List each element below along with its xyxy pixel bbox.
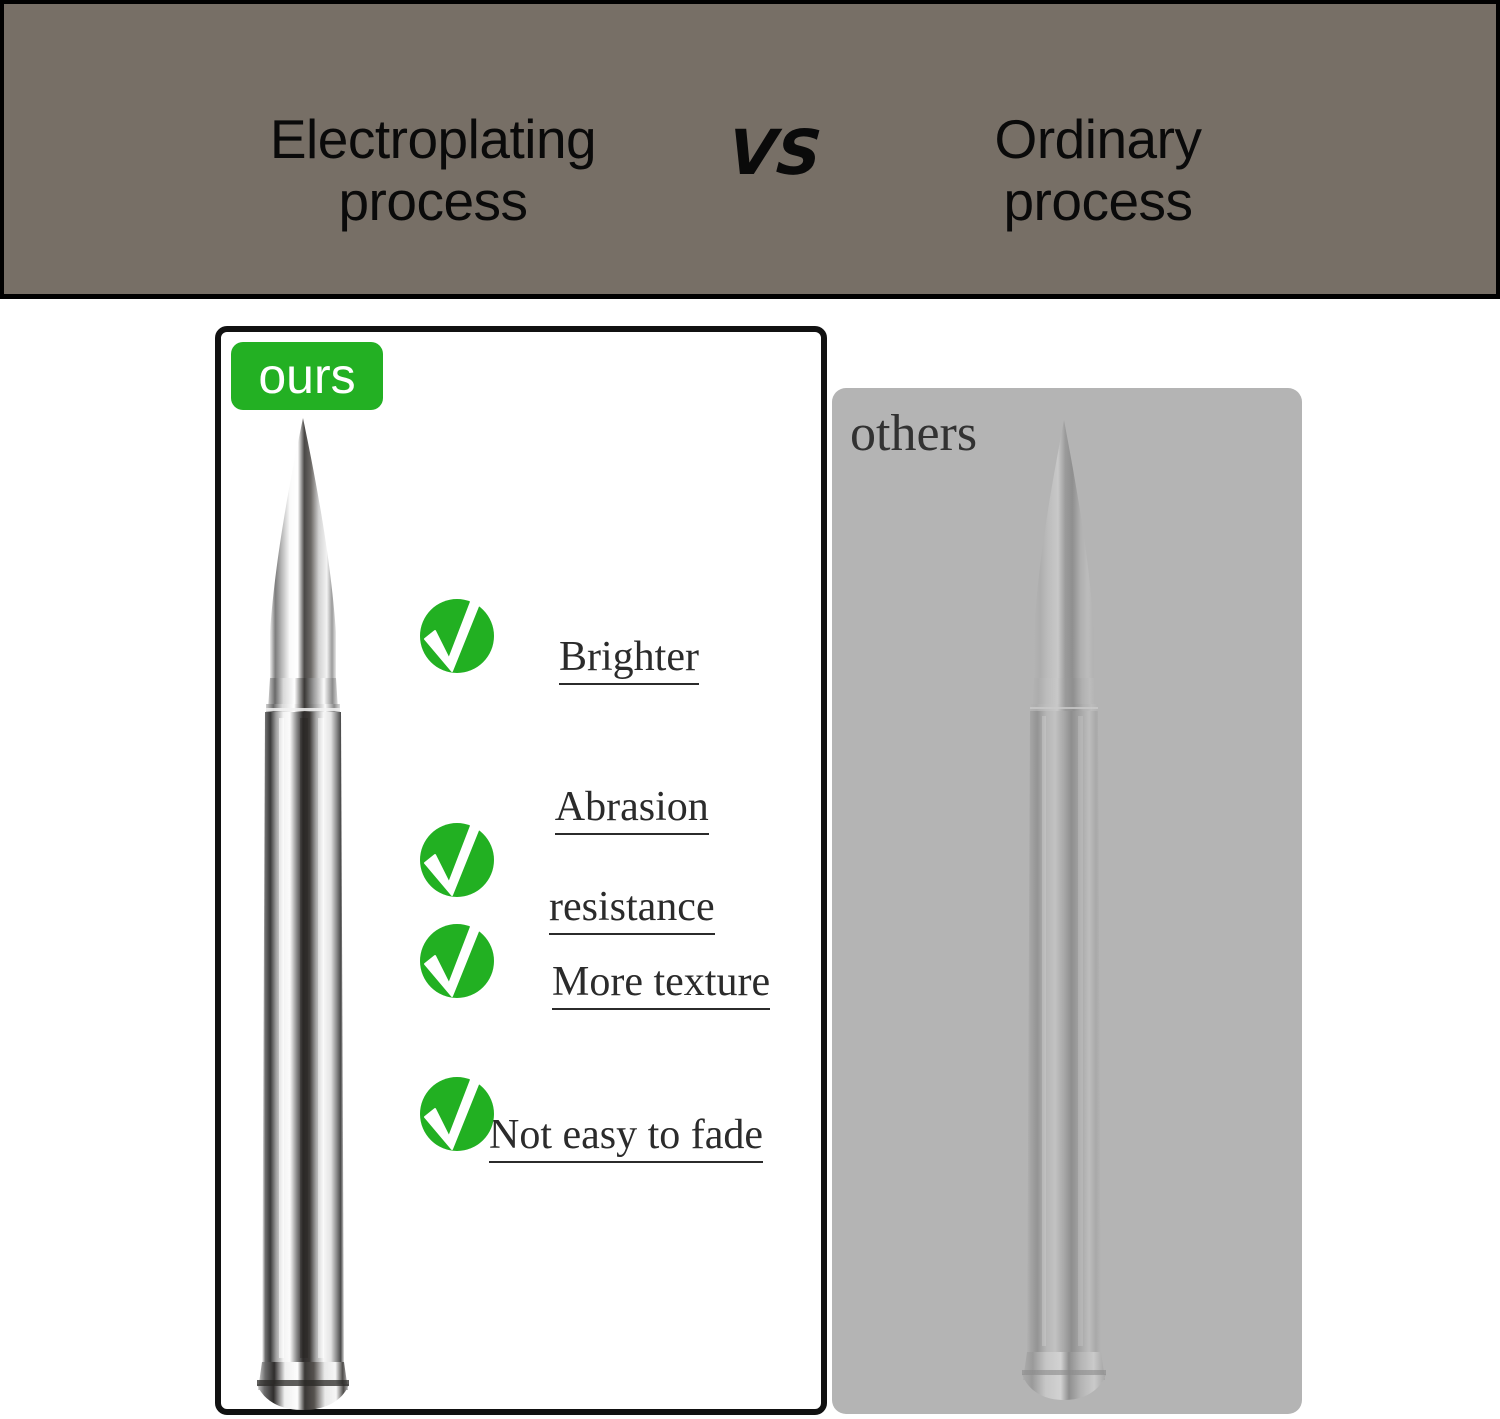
- feature-label: Not easy to fade: [489, 1063, 763, 1163]
- green-check-icon: [417, 595, 497, 675]
- others-label: others: [850, 403, 977, 465]
- right-process-title: Ordinary process: [843, 108, 1353, 232]
- feature-item-not-easy-to-fade: Not easy to fade: [417, 1063, 763, 1163]
- comparison-infographic: Electroplating process VS Ordinary proce…: [0, 0, 1500, 1419]
- ours-badge: ours: [231, 342, 383, 410]
- vs-label: VS: [697, 108, 853, 198]
- feature-item-brighter: Brighter: [417, 585, 699, 685]
- green-check-icon: [417, 1073, 497, 1153]
- gray-bullet-image: [1006, 420, 1122, 1400]
- header-band: Electroplating process VS Ordinary proce…: [0, 0, 1500, 299]
- feature-text-2: More texture: [552, 958, 770, 1010]
- feature-label: Brighter: [559, 585, 699, 685]
- left-process-title: Electroplating process: [148, 108, 718, 232]
- green-check-icon: [417, 819, 497, 899]
- feature-item-more-texture: More texture: [417, 910, 770, 1010]
- chrome-bullet-image: [238, 418, 368, 1410]
- feature-text-1a: Abrasion: [555, 783, 709, 835]
- feature-label: More texture: [552, 910, 770, 1010]
- feature-text-0: Brighter: [559, 633, 699, 685]
- green-check-icon: [417, 920, 497, 1000]
- feature-text-3: Not easy to fade: [489, 1111, 763, 1163]
